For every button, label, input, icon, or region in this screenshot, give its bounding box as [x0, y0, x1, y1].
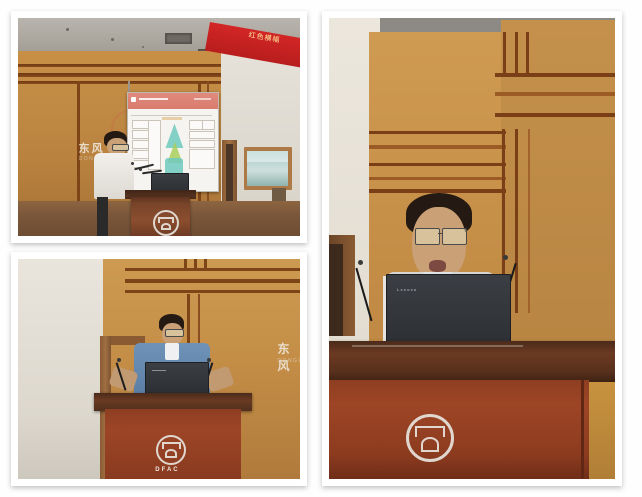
wall-trim-line	[125, 268, 300, 271]
wall-trim-line	[369, 145, 506, 149]
slide-box	[189, 140, 215, 148]
window-blind	[247, 151, 288, 162]
slide-header-bar	[128, 93, 218, 109]
slide-box	[148, 120, 161, 170]
wall-trim-line	[369, 163, 506, 166]
wall-vertical-trim	[503, 32, 506, 73]
ceiling-light	[111, 38, 114, 41]
speaker-glasses	[165, 329, 184, 337]
photo-card-right[interactable]: Lenovo	[322, 11, 622, 486]
ceiling-light	[66, 28, 69, 31]
podium	[329, 380, 589, 479]
photo-bottom-left: 东风 DONGFENG DFAC	[18, 259, 300, 479]
speaker-glasses-left	[415, 228, 440, 245]
wall-trim-line	[125, 290, 300, 293]
speaker-legs	[97, 197, 108, 236]
speaker-mouth	[429, 260, 446, 272]
wall-trim-line	[495, 113, 615, 117]
wall-logo-english: DONGFENG	[277, 358, 300, 364]
slide-box	[132, 140, 148, 149]
slide-subtitle-text	[194, 98, 210, 100]
podium	[131, 197, 190, 236]
dfac-logo-text: DFAC	[148, 467, 187, 473]
glasses-bridge	[438, 233, 442, 234]
wall-vertical-trim	[194, 259, 197, 270]
slide-box	[132, 130, 148, 139]
podium-highlight	[352, 345, 524, 347]
photo-collage-page: 东风 DONGFENG 红色横幅	[0, 0, 642, 497]
wall-vertical-trim	[515, 129, 518, 313]
wall-trim-line	[369, 189, 506, 193]
slide-title-text	[139, 98, 168, 100]
wall-vertical-trim	[528, 129, 530, 313]
photo-card-bottom-left[interactable]: 东风 DONGFENG DFAC	[11, 252, 307, 486]
wall-vertical-trim	[204, 259, 207, 270]
slide-box	[132, 120, 148, 129]
photo-right: Lenovo	[329, 18, 615, 479]
microphone-head	[131, 162, 134, 165]
podium-edge	[581, 380, 584, 479]
laptop-brand-text: Lenovo	[397, 287, 417, 292]
wall-vertical-trim	[184, 259, 187, 270]
slide-box	[189, 131, 215, 139]
microphone-head	[207, 358, 211, 362]
speaker-collar	[165, 343, 179, 361]
wall-trim-line	[125, 279, 300, 283]
wall-vertical-trim	[526, 32, 529, 73]
ceiling-vent	[165, 33, 192, 44]
wall-trim-line	[495, 73, 615, 77]
wall-trim-line	[495, 92, 615, 96]
laptop	[145, 362, 209, 397]
wall-vertical-trim	[515, 32, 518, 73]
wood-wall	[589, 382, 615, 479]
wall-trim-line	[369, 177, 506, 180]
slide-box	[132, 150, 148, 159]
photo-top-left: 东风 DONGFENG 红色横幅	[18, 18, 300, 236]
microphone-head	[358, 260, 363, 265]
laptop-brand-text	[152, 370, 166, 372]
doorway	[329, 244, 343, 336]
photo-card-top-left[interactable]: 东风 DONGFENG 红色横幅	[11, 11, 307, 243]
slide-logo-icon	[131, 97, 136, 102]
slide-box	[189, 120, 203, 129]
wall-trim-line	[18, 81, 221, 84]
slide-box	[202, 120, 215, 129]
slide-label	[162, 117, 182, 120]
microphone-head	[117, 358, 121, 362]
slide-box	[189, 149, 215, 169]
speaker-glasses-right	[442, 228, 467, 245]
dfac-emblem-icon	[153, 210, 179, 236]
speaker-glasses	[112, 144, 128, 150]
wall-trim-line	[369, 131, 506, 134]
wall-trim-line	[18, 64, 221, 67]
wall-trim-line	[18, 73, 221, 77]
dfac-emblem-icon	[156, 435, 186, 465]
doorway	[226, 144, 233, 205]
